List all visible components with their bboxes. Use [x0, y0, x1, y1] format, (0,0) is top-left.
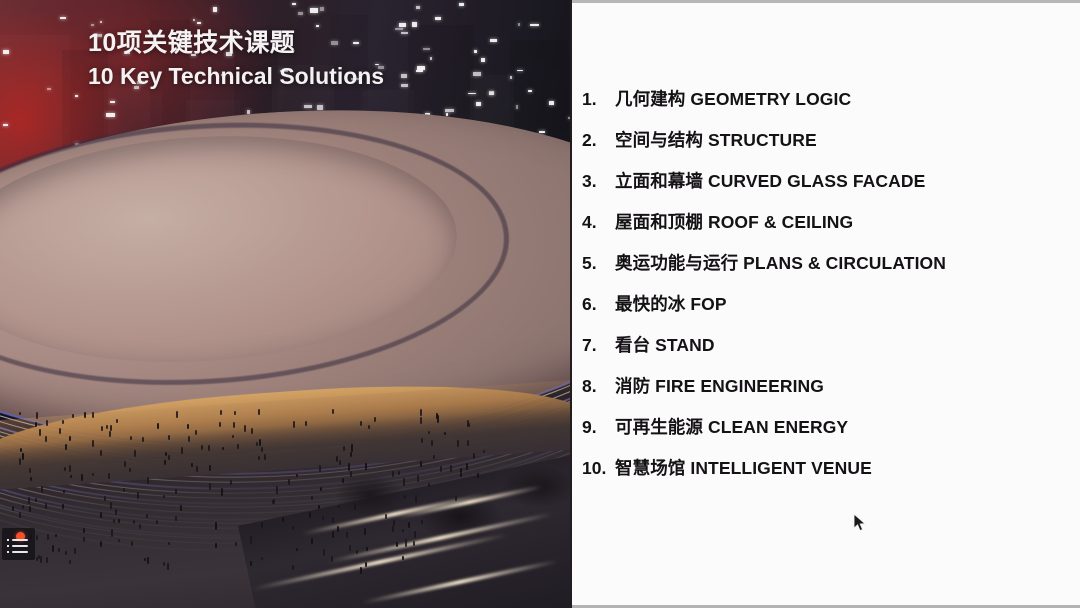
- list-line-icon: [12, 551, 28, 553]
- pedestrian: [396, 542, 398, 547]
- pedestrian: [342, 478, 344, 483]
- pedestrian: [142, 437, 144, 442]
- pedestrian: [235, 542, 237, 546]
- window-light: [401, 32, 408, 35]
- list-bullet-icon: [7, 551, 9, 553]
- list-item: 7.看台 STAND: [582, 332, 946, 373]
- pedestrian: [70, 475, 72, 478]
- list-item: 8.消防 FIRE ENGINEERING: [582, 373, 946, 414]
- pedestrian: [256, 442, 258, 446]
- pedestrian: [221, 488, 223, 496]
- window-light: [510, 76, 512, 79]
- pedestrian: [84, 412, 86, 418]
- pedestrian: [368, 425, 370, 429]
- pedestrian: [30, 477, 32, 481]
- window-light: [395, 28, 403, 30]
- pedestrian: [405, 539, 407, 547]
- pedestrian: [123, 488, 125, 492]
- pedestrian: [466, 463, 468, 470]
- window-light: [518, 23, 521, 25]
- pedestrian: [215, 543, 217, 548]
- pedestrian: [250, 561, 252, 566]
- pedestrian: [134, 450, 136, 457]
- pedestrian: [385, 514, 387, 519]
- window-light: [60, 17, 66, 19]
- list-item-label: 屋面和顶棚 ROOF & CEILING: [615, 209, 853, 234]
- pedestrian: [12, 506, 14, 511]
- pedestrian: [374, 417, 376, 422]
- pedestrian: [65, 444, 67, 450]
- pedestrian: [460, 468, 462, 473]
- pedestrian: [39, 429, 41, 436]
- pedestrian: [261, 522, 263, 528]
- pedestrian: [288, 479, 290, 485]
- pedestrian: [22, 453, 24, 459]
- pedestrian: [408, 522, 410, 528]
- pedestrian: [35, 498, 37, 502]
- pedestrian: [157, 423, 159, 429]
- pedestrian: [101, 426, 103, 432]
- list-item: 2.空间与结构 STRUCTURE: [582, 127, 946, 168]
- pedestrian: [258, 409, 260, 415]
- pedestrian: [339, 460, 341, 465]
- list-item-number: 10.: [582, 458, 615, 479]
- pedestrian: [47, 534, 49, 540]
- pedestrian: [74, 548, 76, 554]
- list-item-number: 9.: [582, 417, 615, 438]
- pedestrian: [421, 438, 423, 443]
- list-item-label: 最快的冰 FOP: [615, 291, 727, 316]
- pedestrian: [366, 547, 368, 551]
- window-light: [399, 23, 406, 27]
- list-item-label: 看台 STAND: [615, 332, 715, 357]
- oval-inner-rim: [0, 105, 517, 402]
- slide-title-block: 10项关键技术课题 10 Key Technical Solutions: [88, 28, 384, 92]
- pedestrian: [417, 475, 419, 481]
- pedestrian: [110, 425, 112, 431]
- pedestrian: [118, 539, 120, 542]
- pedestrian: [319, 465, 321, 472]
- pedestrian: [351, 444, 353, 452]
- pedestrian: [346, 532, 348, 538]
- pedestrian: [69, 436, 71, 442]
- pedestrian: [305, 421, 307, 427]
- list-line-icon: [12, 545, 28, 547]
- pedestrian: [415, 495, 417, 503]
- list-item-number: 3.: [582, 171, 615, 192]
- pedestrian: [431, 440, 433, 446]
- window-light: [435, 17, 441, 20]
- pedestrian: [364, 528, 366, 536]
- pedestrian: [338, 505, 340, 509]
- page-title-chinese: 10项关键技术课题: [88, 28, 384, 59]
- list-item: 10.智慧场馆 INTELLIGENT VENUE: [582, 455, 946, 496]
- pedestrian: [58, 548, 60, 552]
- page-title-english: 10 Key Technical Solutions: [88, 62, 384, 92]
- pedestrian: [201, 445, 203, 450]
- window-light: [430, 57, 432, 60]
- pedestrian: [69, 465, 71, 472]
- list-item: 1.几何建构 GEOMETRY LOGIC: [582, 86, 946, 127]
- pedestrian: [477, 473, 479, 479]
- pedestrian: [296, 548, 298, 551]
- pedestrian: [36, 535, 38, 541]
- pedestrian: [116, 419, 118, 423]
- pedestrian: [428, 431, 430, 434]
- pedestrian: [230, 480, 232, 485]
- pedestrian: [111, 529, 113, 536]
- pedestrian: [195, 430, 197, 435]
- pedestrian: [433, 455, 435, 460]
- pedestrian: [261, 557, 263, 561]
- pedestrian: [175, 489, 177, 494]
- window-light: [304, 105, 312, 108]
- pedestrian: [258, 456, 260, 460]
- pedestrian: [100, 541, 102, 547]
- solutions-list: 1.几何建构 GEOMETRY LOGIC2.空间与结构 STRUCTURE3.…: [582, 86, 946, 496]
- list-item-label: 智慧场馆 INTELLIGENT VENUE: [615, 455, 872, 480]
- pedestrian: [144, 558, 146, 561]
- pedestrian: [237, 444, 239, 449]
- list-item-label: 消防 FIRE ENGINEERING: [615, 373, 824, 398]
- pedestrian: [168, 542, 170, 545]
- window-light: [473, 72, 481, 76]
- pedestrian: [28, 497, 30, 505]
- pedestrian: [108, 473, 110, 479]
- pedestrian: [129, 468, 131, 472]
- pedestrian: [450, 465, 452, 473]
- window-light: [416, 6, 420, 9]
- pedestrian: [320, 487, 322, 492]
- venue-render-image: 10项关键技术课题 10 Key Technical Solutions: [0, 0, 570, 608]
- list-item: 9.可再生能源 CLEAN ENERGY: [582, 414, 946, 455]
- window-light: [3, 50, 9, 54]
- panel-top-edge: [572, 0, 1080, 3]
- pedestrian: [332, 517, 334, 523]
- pedestrian: [36, 412, 38, 418]
- list-item-number: 1.: [582, 89, 615, 110]
- pedestrian: [35, 422, 37, 428]
- window-light: [423, 48, 430, 50]
- pedestrian: [29, 468, 31, 473]
- pedestrian: [311, 496, 313, 500]
- list-bullet-icon: [7, 545, 9, 547]
- list-item-number: 2.: [582, 130, 615, 151]
- pedestrian: [19, 458, 21, 465]
- pedestrian: [232, 435, 234, 438]
- pedestrian: [250, 536, 252, 544]
- window-light: [75, 95, 79, 97]
- window-light: [320, 7, 324, 11]
- pedestrian: [92, 440, 94, 447]
- pedestrian: [72, 414, 74, 418]
- pedestrian: [69, 560, 71, 564]
- pedestrian: [45, 503, 47, 509]
- pedestrian: [83, 537, 85, 542]
- pedestrian: [318, 505, 320, 509]
- pedestrian: [392, 526, 394, 533]
- pedestrian: [292, 565, 294, 570]
- pedestrian: [259, 439, 261, 446]
- pedestrian: [62, 504, 64, 510]
- pedestrian: [20, 448, 22, 452]
- window-light: [459, 3, 464, 6]
- window-light: [476, 102, 481, 106]
- window-light: [489, 92, 495, 96]
- window-light: [549, 101, 555, 105]
- pedestrian: [130, 436, 132, 440]
- window-light: [528, 90, 532, 93]
- pedestrian: [100, 512, 102, 519]
- window-light: [412, 22, 417, 26]
- pedestrian: [365, 463, 367, 470]
- pedestrian: [139, 524, 141, 529]
- window-light: [197, 22, 201, 25]
- pedestrian: [163, 495, 165, 498]
- pedestrian: [332, 531, 334, 538]
- pedestrian: [292, 526, 294, 530]
- pedestrian: [322, 516, 324, 519]
- list-item-number: 7.: [582, 335, 615, 356]
- pedestrian: [392, 471, 394, 477]
- list-item-label: 可再生能源 CLEAN ENERGY: [615, 414, 848, 439]
- pedestrian: [46, 557, 48, 563]
- list-item-number: 6.: [582, 294, 615, 315]
- pedestrian: [175, 516, 177, 521]
- pedestrian: [467, 420, 469, 427]
- playlist-badge[interactable]: [2, 528, 35, 560]
- list-item-number: 8.: [582, 376, 615, 397]
- pedestrian: [46, 420, 48, 426]
- pedestrian: [209, 465, 211, 471]
- pedestrian: [180, 505, 182, 511]
- pedestrian: [118, 519, 120, 523]
- pedestrian: [276, 486, 278, 494]
- pedestrian: [293, 421, 295, 428]
- pedestrian: [273, 499, 275, 504]
- pedestrian: [100, 450, 102, 456]
- pedestrian: [360, 421, 362, 426]
- pedestrian: [215, 522, 217, 529]
- pedestrian: [55, 534, 57, 538]
- pedestrian: [323, 549, 325, 556]
- window-light: [474, 50, 478, 52]
- pedestrian: [196, 466, 198, 472]
- pedestrian: [251, 428, 253, 434]
- pedestrian: [233, 422, 235, 428]
- pedestrian: [109, 431, 111, 436]
- pedestrian: [440, 466, 442, 472]
- slide-canvas: 10项关键技术课题 10 Key Technical Solutions 1.几…: [0, 0, 1080, 608]
- pedestrian: [402, 556, 404, 560]
- list-item: 5.奥运功能与运行 PLANS & CIRCULATION: [582, 250, 946, 291]
- list-bullet-icon: [7, 539, 9, 541]
- pedestrian: [81, 474, 83, 481]
- pedestrian: [38, 555, 40, 559]
- window-light: [401, 74, 407, 78]
- list-item: 6.最快的冰 FOP: [582, 291, 946, 332]
- pedestrian: [83, 528, 85, 534]
- pedestrian: [106, 425, 108, 429]
- pedestrian: [164, 460, 166, 466]
- list-item-label: 立面和幕墙 CURVED GLASS FACADE: [615, 168, 925, 193]
- pedestrian: [467, 440, 469, 446]
- pedestrian: [208, 445, 210, 452]
- pedestrian: [41, 486, 43, 493]
- pedestrian: [22, 505, 24, 508]
- solutions-panel: 1.几何建构 GEOMETRY LOGIC2.空间与结构 STRUCTURE3.…: [570, 0, 1080, 608]
- list-item-number: 4.: [582, 212, 615, 233]
- window-light: [193, 19, 196, 21]
- pedestrian: [110, 502, 112, 509]
- pedestrian: [131, 541, 133, 546]
- pedestrian: [413, 541, 415, 546]
- pedestrian: [244, 425, 246, 432]
- list-item-label: 奥运功能与运行 PLANS & CIRCULATION: [615, 250, 946, 275]
- pedestrian: [336, 456, 338, 460]
- pedestrian: [403, 478, 405, 486]
- pedestrian: [156, 520, 158, 524]
- pedestrian: [65, 551, 67, 555]
- pedestrian: [455, 496, 457, 500]
- list-item-label: 空间与结构 STRUCTURE: [615, 127, 817, 152]
- list-item-label: 几何建构 GEOMETRY LOGIC: [615, 86, 851, 111]
- pedestrian: [457, 440, 459, 447]
- pedestrian: [104, 496, 106, 501]
- pedestrian: [348, 463, 350, 471]
- pedestrian: [421, 520, 423, 524]
- pedestrian: [176, 411, 178, 418]
- list-item: 3.立面和幕墙 CURVED GLASS FACADE: [582, 168, 946, 209]
- pedestrian: [45, 436, 47, 442]
- pedestrian: [261, 447, 263, 453]
- pedestrian: [163, 562, 165, 566]
- list-item-number: 5.: [582, 253, 615, 274]
- pedestrian: [309, 512, 311, 518]
- pedestrian: [165, 452, 167, 456]
- window-light: [481, 58, 485, 62]
- window-light: [100, 21, 103, 23]
- pedestrian: [282, 517, 284, 522]
- window-light: [517, 70, 523, 72]
- pedestrian: [349, 545, 351, 550]
- pedestrian: [124, 461, 126, 467]
- window-light: [530, 24, 539, 27]
- window-light: [47, 88, 50, 90]
- window-light: [317, 105, 323, 109]
- pedestrian: [414, 531, 416, 538]
- window-light: [490, 39, 497, 42]
- pedestrian: [264, 454, 266, 460]
- pedestrian: [52, 545, 54, 552]
- pedestrian: [146, 514, 148, 518]
- pedestrian: [181, 447, 183, 453]
- list-line-icon: [12, 539, 28, 541]
- pedestrian: [404, 495, 406, 499]
- window-light: [310, 8, 318, 12]
- pedestrian: [436, 413, 438, 419]
- pedestrian: [356, 550, 358, 554]
- pedestrian: [337, 526, 339, 532]
- pedestrian: [428, 483, 430, 487]
- pedestrian: [393, 520, 395, 526]
- pedestrian: [402, 529, 404, 532]
- pedestrian: [147, 477, 149, 484]
- pedestrian: [473, 453, 475, 459]
- pedestrian: [360, 567, 362, 574]
- pedestrian: [115, 509, 117, 515]
- window-light: [110, 101, 115, 103]
- pedestrian: [92, 412, 94, 419]
- pedestrian: [92, 473, 94, 477]
- window-light: [213, 7, 217, 11]
- pedestrian: [168, 455, 170, 461]
- pedestrian: [188, 436, 190, 442]
- window-light: [298, 12, 304, 15]
- list-item: 4.屋面和顶棚 ROOF & CEILING: [582, 209, 946, 250]
- window-light: [401, 84, 408, 87]
- pedestrian: [19, 512, 21, 518]
